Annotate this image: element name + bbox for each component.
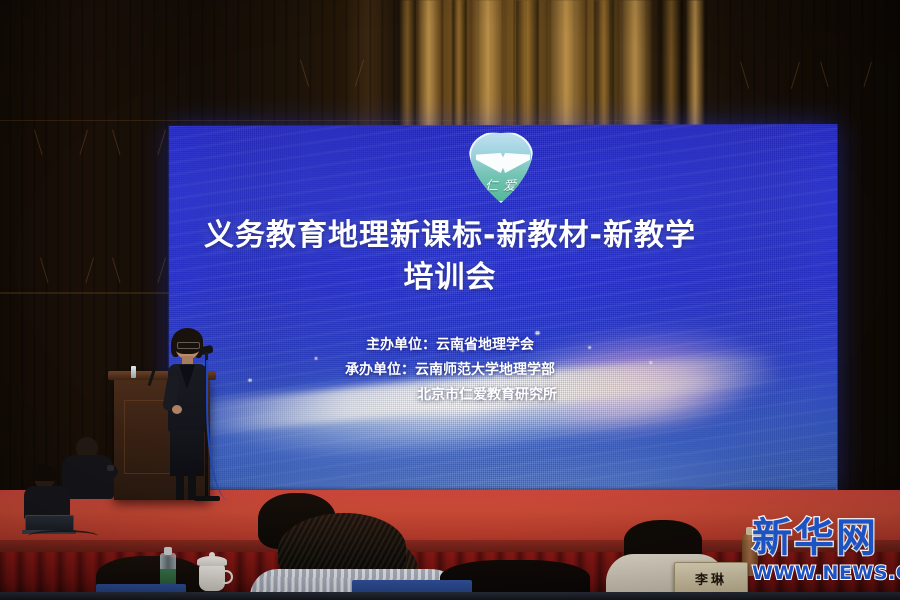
slide-title: 义务教育地理新课标-新教材-新教学 培训会 — [0, 215, 900, 299]
open-book-icon — [476, 153, 530, 173]
heart-shield-icon: 仁爱 — [469, 131, 533, 203]
tea-cup — [197, 556, 227, 592]
xinhua-watermark: 新华网 WWW.NEWS.CN — [752, 516, 892, 584]
slide-logo: 仁爱 — [455, 131, 547, 209]
slide-subtitle-organizer: 主办单位：云南省地理学会 — [0, 333, 900, 358]
tea-cup-body — [199, 565, 225, 591]
watermark-url: WWW.NEWS.CN — [752, 562, 892, 584]
name-placard: 李琳 — [674, 562, 748, 594]
slide-title-line-1: 义务教育地理新课标-新教材-新教学 — [0, 215, 900, 257]
speaker-hair — [172, 328, 203, 354]
crew-hair — [32, 465, 57, 481]
name-placard-text: 李琳 — [695, 569, 727, 588]
wall-chevron-inlay — [34, 130, 88, 156]
crew-member-operator — [24, 467, 70, 517]
slide-title-line-2: 培训会 — [0, 257, 900, 299]
wall-chevron-inlay — [300, 60, 364, 88]
wall-chevron-inlay — [112, 130, 166, 156]
wall-chevron-inlay — [740, 62, 800, 90]
speaker-hand — [172, 405, 182, 414]
speaker-presenter — [163, 331, 211, 501]
speaker-glasses — [177, 342, 200, 349]
logo-characters: 仁爱 — [471, 175, 533, 194]
tea-cup-knob — [209, 552, 215, 558]
wall-chevron-inlay — [820, 62, 872, 88]
audience-table — [0, 592, 900, 600]
crew-wristwatch — [107, 465, 114, 471]
speaker-leg — [176, 474, 184, 500]
lectern-water-bottle — [131, 366, 136, 378]
microphone-base — [194, 496, 220, 501]
stage-cables — [28, 530, 98, 542]
conference-stage-photo: 仁爱 义务教育地理新课标-新教材-新教学 培训会 主办单位：云南省地理学会 承办… — [0, 0, 900, 600]
bottle-cap — [164, 547, 172, 555]
speaker-skirt — [170, 430, 204, 476]
watermark-brand: 新华网 — [752, 516, 892, 560]
